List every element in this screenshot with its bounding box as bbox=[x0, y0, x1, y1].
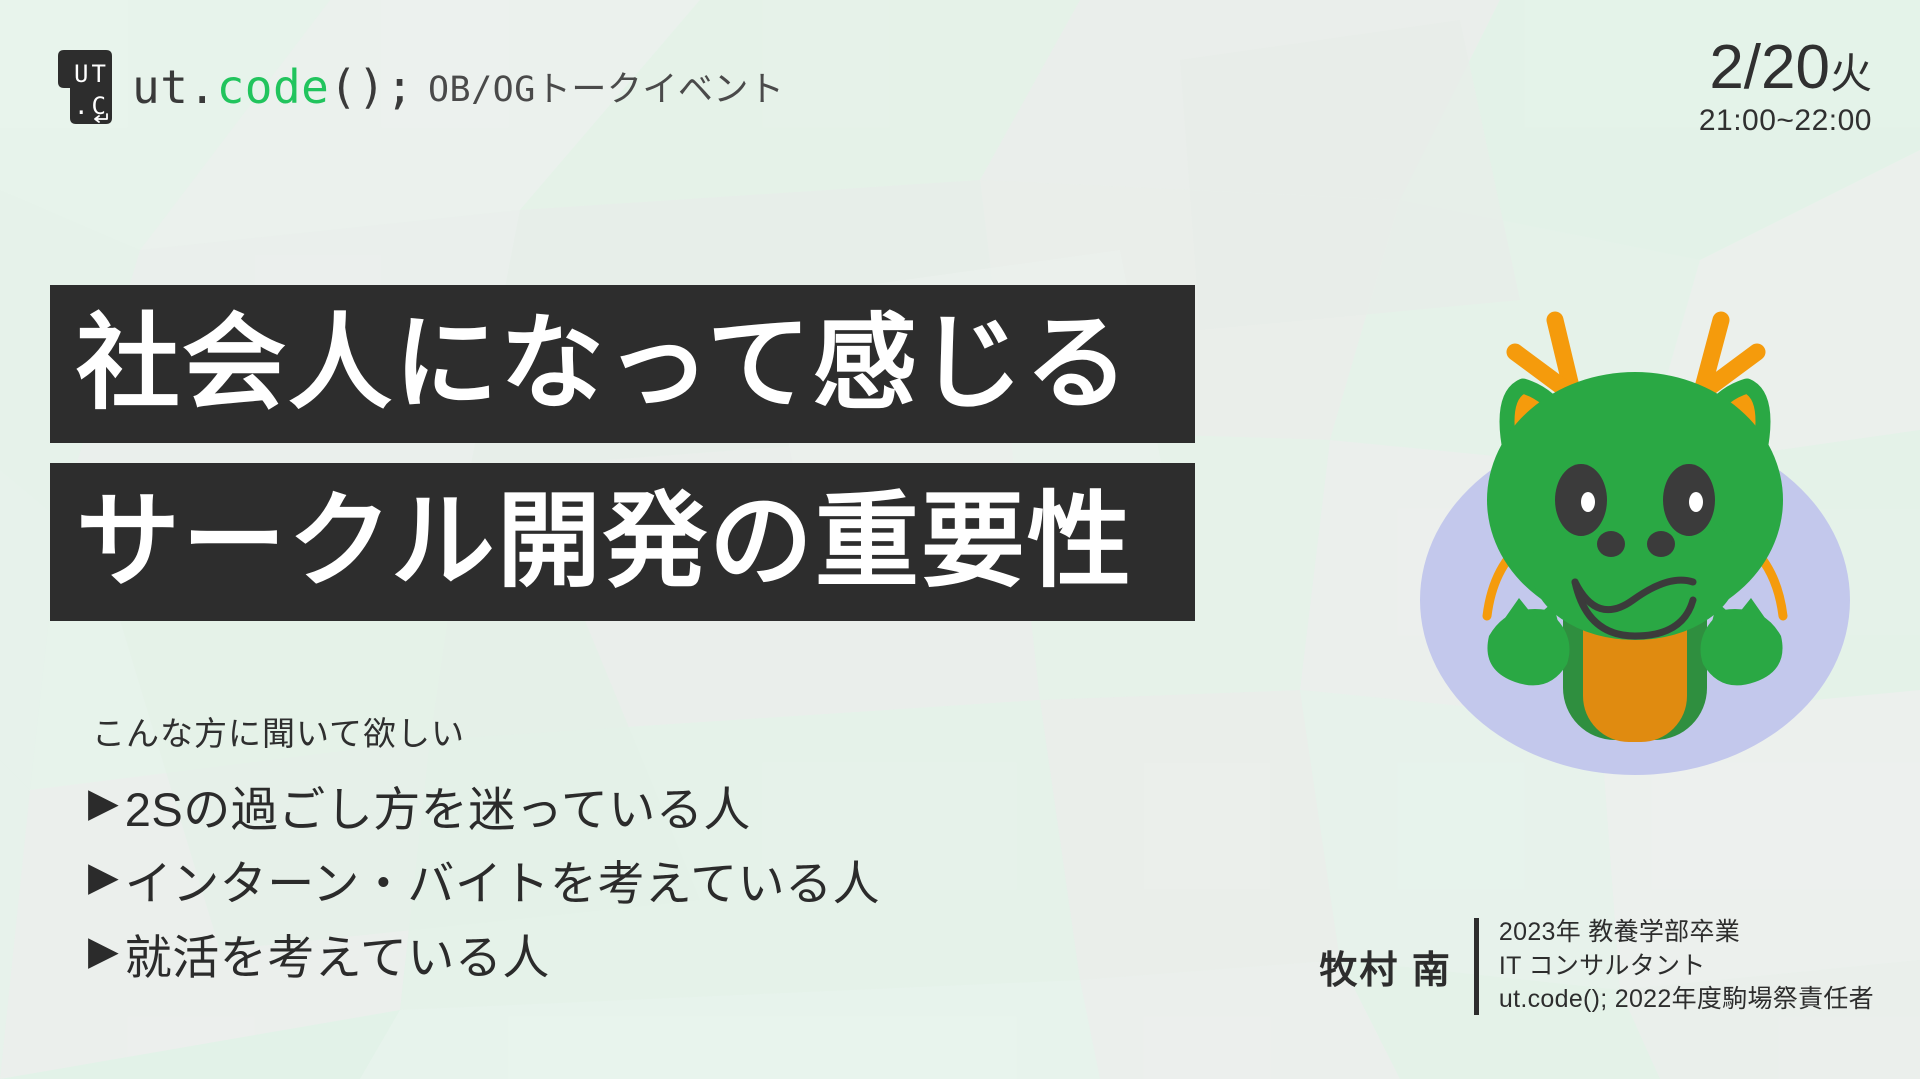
dragon-mascot-icon bbox=[1395, 200, 1875, 760]
speaker-credit: 牧村 南 2023年 教養学部卒業 IT コンサルタント ut.code(); … bbox=[1319, 916, 1874, 1017]
list-item: ▶ 就活を考えている人 bbox=[88, 916, 880, 990]
event-kind-label: OB/OGトークイベント bbox=[428, 61, 784, 112]
wordmark-prefix: ut. bbox=[132, 60, 217, 114]
event-weekday: 火 bbox=[1830, 50, 1872, 97]
brand-header: UT .C ut.code(); OB/OGトークイベント bbox=[50, 48, 784, 126]
triangle-bullet-icon: ▶ bbox=[88, 931, 119, 971]
wordmark-accent: code bbox=[217, 60, 330, 114]
title-line-2: サークル開発の重要性 bbox=[76, 490, 1133, 594]
event-date-day: 2/20 bbox=[1709, 33, 1830, 102]
speaker-name: 牧村 南 bbox=[1319, 939, 1474, 994]
event-date: 2/20火 bbox=[1699, 36, 1872, 99]
speaker-detail-line: 2023年 教養学部卒業 bbox=[1499, 916, 1874, 950]
title-band-secondary: サークル開発の重要性 bbox=[50, 463, 1195, 621]
audience-item-label: インターン・バイトを考えている人 bbox=[125, 845, 880, 914]
title-line-1: 社会人になって感じる bbox=[76, 312, 1131, 416]
speaker-details: 2023年 教養学部卒業 IT コンサルタント ut.code(); 2022年… bbox=[1479, 916, 1874, 1017]
list-item: ▶ インターン・バイトを考えている人 bbox=[88, 842, 880, 916]
svg-text:.C: .C bbox=[74, 92, 109, 120]
audience-item-label: 就活を考えている人 bbox=[125, 919, 550, 988]
utc-logo-icon[interactable]: UT .C bbox=[50, 48, 114, 126]
wordmark-suffix: (); bbox=[329, 60, 414, 114]
title-band-primary: 社会人になって感じる bbox=[50, 285, 1195, 443]
utcode-wordmark: ut.code(); OB/OGトークイベント bbox=[132, 60, 784, 114]
event-time: 21:00~22:00 bbox=[1699, 103, 1872, 139]
event-date-block: 2/20火 21:00~22:00 bbox=[1699, 36, 1872, 139]
event-poster: UT .C ut.code(); OB/OGトークイベント 2/20火 21:0… bbox=[0, 0, 1920, 1079]
speaker-detail-line: IT コンサルタント bbox=[1499, 950, 1874, 984]
triangle-bullet-icon: ▶ bbox=[88, 857, 119, 897]
audience-list: ▶ 2Sの過ごし方を迷っている人 ▶ インターン・バイトを考えている人 ▶ 就活… bbox=[88, 768, 880, 990]
triangle-bullet-icon: ▶ bbox=[88, 783, 119, 823]
speaker-detail-line: ut.code(); 2022年度駒場祭責任者 bbox=[1499, 983, 1874, 1017]
audience-item-label: 2Sの過ごし方を迷っている人 bbox=[125, 771, 751, 840]
svg-text:UT: UT bbox=[74, 60, 109, 88]
audience-lead-label: こんな方に聞いて欲しい bbox=[92, 707, 465, 755]
list-item: ▶ 2Sの過ごし方を迷っている人 bbox=[88, 768, 880, 842]
